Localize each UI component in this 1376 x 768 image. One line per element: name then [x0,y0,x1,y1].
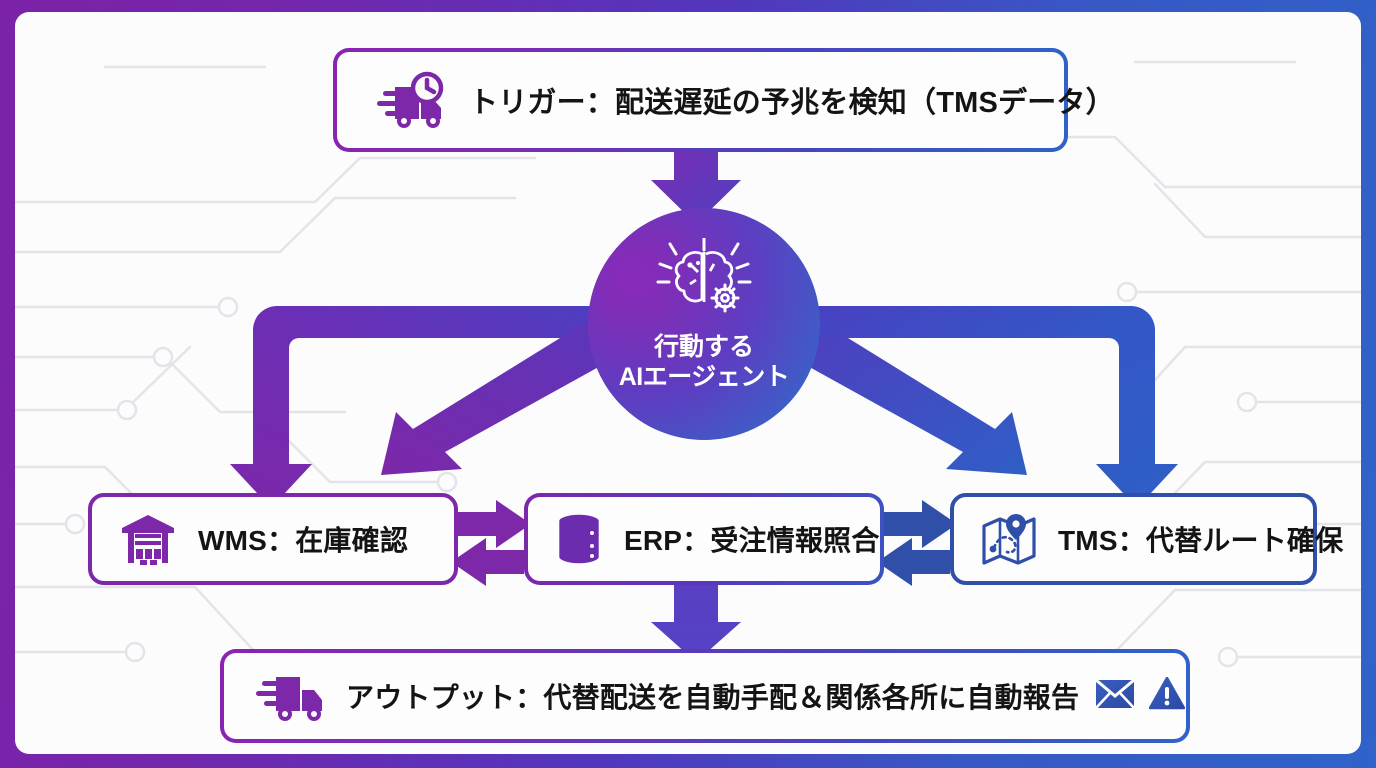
agent-label: 行動する AIエージェント [619,333,790,392]
diagram-frame: トリガー：配送遅延の予兆を検知（TMSデータ） [0,0,1376,768]
trigger-node[interactable]: トリガー：配送遅延の予兆を検知（TMSデータ） [333,48,1068,152]
agent-label-line1: 行動する [619,333,790,363]
warehouse-icon [120,513,176,565]
tms-label: TMS：代替ルート確保 [1058,519,1343,559]
warning-triangle-icon [1149,677,1185,715]
erp-label: ERP：受注情報照合 [624,519,880,559]
diagram-canvas: トリガー：配送遅延の予兆を検知（TMSデータ） [15,12,1361,754]
tms-node[interactable]: TMS：代替ルート確保 [950,493,1317,585]
delivery-truck-clock-icon [375,71,449,129]
delivery-truck-icon [254,669,328,723]
output-trailing-icons [1095,677,1185,715]
agent-label-line2: AIエージェント [619,363,790,393]
output-label: アウトプット：代替配送を自動手配＆関係各所に自動報告 [346,676,1079,716]
output-node[interactable]: アウトプット：代替配送を自動手配＆関係各所に自動報告 [220,649,1190,743]
erp-node[interactable]: ERP：受注情報照合 [524,493,884,585]
database-icon [554,512,604,566]
wms-label: WMS：在庫確認 [198,519,408,559]
trigger-label: トリガー：配送遅延の予兆を検知（TMSデータ） [469,79,1115,121]
route-map-pin-icon [980,512,1038,566]
wms-node[interactable]: WMS：在庫確認 [88,493,458,585]
ai-agent-node[interactable]: 行動する AIエージェント [588,208,820,440]
envelope-icon [1095,678,1135,715]
brain-gear-icon [654,238,754,327]
